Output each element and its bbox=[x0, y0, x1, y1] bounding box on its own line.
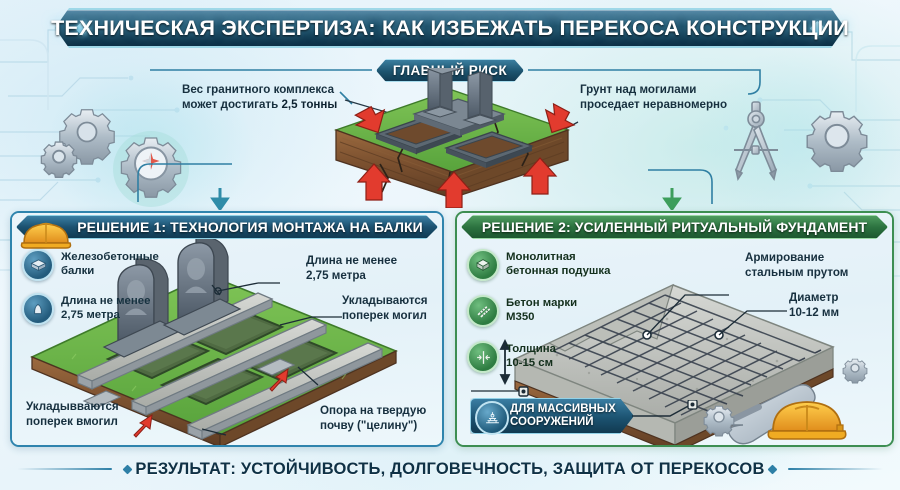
i-beam-icon bbox=[22, 249, 54, 281]
result-line-right bbox=[788, 468, 883, 470]
panel-1-bullet-1-text: Длина не менее 2,75 метра bbox=[61, 293, 150, 323]
monument-stack-icon bbox=[475, 401, 509, 435]
infographic-canvas: ТЕХНИЧЕСКАЯ ЭКСПЕРТИЗА: КАК ИЗБЕЖАТЬ ПЕР… bbox=[0, 0, 900, 490]
result-text: РЕЗУЛЬТАТ: УСТОЙЧИВОСТЬ, ДОЛГОВЕЧНОСТЬ, … bbox=[135, 460, 764, 479]
note-granite-weight: Вес гранитного комплекса может достигать… bbox=[182, 83, 354, 113]
panel-2-bullet-1: Бетон марки М350 bbox=[467, 295, 617, 327]
rebar-icon bbox=[467, 295, 499, 327]
panel-1-header-label: РЕШЕНИЕ 1: ТЕХНОЛОГИЯ МОНТАЖА НА БАЛКИ bbox=[12, 213, 442, 241]
result-banner: РЕЗУЛЬТАТ: УСТОЙЧИВОСТЬ, ДОЛГОВЕЧНОСТЬ, … bbox=[0, 455, 900, 483]
result-line-left bbox=[17, 468, 112, 470]
thickness-arrows-icon bbox=[467, 341, 499, 373]
massive-badge-label: ДЛЯ МАССИВНЫХ СООРУЖЕНИЙ bbox=[510, 398, 620, 434]
note-solid-soil: Опора на твердую почву ("целину") bbox=[320, 404, 440, 434]
note-beam-length: Длина не менее 2,75 метра bbox=[306, 254, 436, 284]
note-across-graves: Укладываются поперек могил bbox=[342, 294, 442, 324]
main-risk-label: ГЛАВНЫЙ РИСК bbox=[376, 59, 524, 82]
main-risk-badge: ГЛАВНЫЙ РИСК bbox=[376, 59, 524, 82]
panel-2-header: РЕШЕНИЕ 2: УСИЛЕННЫЙ РИТУАЛЬНЫЙ ФУНДАМЕН… bbox=[457, 213, 892, 241]
hard-hat-icon bbox=[20, 215, 72, 253]
panel-solution-1: РЕШЕНИЕ 1: ТЕХНОЛОГИЯ МОНТАЖА НА БАЛКИ Ж… bbox=[10, 211, 444, 447]
panel-2-bullet-0: Монолитная бетонная подушка bbox=[467, 249, 617, 281]
panel-2-bullet-2-text: Толщина 10-15 см bbox=[506, 341, 556, 371]
note-uneven-settling: Грунт над могилами проседает неравномерн… bbox=[580, 83, 770, 113]
panel-1-bullet-1: Длина не менее 2,75 метра bbox=[22, 293, 152, 325]
panel-1-bullet-0: Железобетонные балки bbox=[22, 249, 152, 281]
note-diameter: Диаметр 10-12 мм bbox=[789, 291, 889, 321]
title-banner: ТЕХНИЧЕСКАЯ ЭКСПЕРТИЗА: КАК ИЗБЕЖАТЬ ПЕР… bbox=[55, 8, 845, 48]
concrete-bag-icon bbox=[22, 293, 54, 325]
panel-1-bullet-0-text: Железобетонные балки bbox=[61, 249, 159, 279]
note-rebar: Армирование стальным прутом bbox=[745, 251, 894, 281]
concrete-block-icon bbox=[467, 249, 499, 281]
panel-2-bullet-0-text: Монолитная бетонная подушка bbox=[506, 249, 610, 279]
panel-2-bullet-2: Толщина 10-15 см bbox=[467, 341, 617, 373]
panel-1-header: РЕШЕНИЕ 1: ТЕХНОЛОГИЯ МОНТАЖА НА БАЛКИ bbox=[12, 213, 442, 241]
result-diamond-left-icon bbox=[123, 464, 133, 474]
panel-2-header-label: РЕШЕНИЕ 2: УСИЛЕННЫЙ РИТУАЛЬНЫЙ ФУНДАМЕН… bbox=[457, 213, 892, 241]
note-across-graves-bottom: Укладывваются поперек вмогил bbox=[26, 400, 152, 430]
panel-2-bullet-1-text: Бетон марки М350 bbox=[506, 295, 577, 325]
result-diamond-right-icon bbox=[767, 464, 777, 474]
page-title: ТЕХНИЧЕСКАЯ ЭКСПЕРТИЗА: КАК ИЗБЕЖАТЬ ПЕР… bbox=[55, 8, 845, 48]
massive-structures-badge: ДЛЯ МАССИВНЫХ СООРУЖЕНИЙ bbox=[470, 398, 634, 434]
